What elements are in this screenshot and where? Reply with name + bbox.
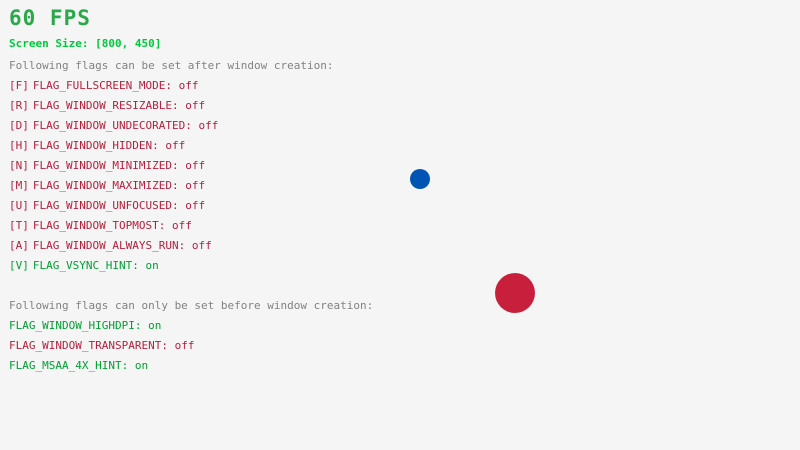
flag-row[interactable]: [D]FLAG_WINDOW_UNDECORATED: off (9, 119, 218, 132)
flag-row[interactable]: FLAG_WINDOW_TRANSPARENT: off (9, 339, 194, 352)
flag-row[interactable]: FLAG_MSAA_4X_HINT: on (9, 359, 148, 372)
flag-value: off (179, 159, 206, 172)
flag-name: FLAG_MSAA_4X_HINT: (9, 359, 128, 372)
flag-name: FLAG_WINDOW_HIGHDPI: (9, 319, 141, 332)
flag-row[interactable]: [N]FLAG_WINDOW_MINIMIZED: off (9, 159, 205, 172)
flag-row[interactable]: [M]FLAG_WINDOW_MAXIMIZED: off (9, 179, 205, 192)
flag-row[interactable]: [R]FLAG_WINDOW_RESIZABLE: off (9, 99, 205, 112)
flag-value: off (185, 239, 212, 252)
flag-name: FLAG_WINDOW_RESIZABLE: (33, 99, 179, 112)
flag-key: [D] (9, 119, 29, 132)
flag-name: FLAG_WINDOW_TOPMOST: (33, 219, 165, 232)
flag-name: FLAG_WINDOW_TRANSPARENT: (9, 339, 168, 352)
flag-key: [M] (9, 179, 29, 192)
flag-name: FLAG_WINDOW_MINIMIZED: (33, 159, 179, 172)
flag-value: off (159, 139, 186, 152)
flag-name: FLAG_WINDOW_UNFOCUSED: (33, 199, 179, 212)
flag-key: [A] (9, 239, 29, 252)
flag-value: off (165, 219, 192, 232)
flag-row[interactable]: FLAG_WINDOW_HIGHDPI: on (9, 319, 161, 332)
fps-counter: 60 FPS (9, 6, 91, 30)
flag-key: [H] (9, 139, 29, 152)
flag-key: [R] (9, 99, 29, 112)
flag-key: [V] (9, 259, 29, 272)
flag-name: FLAG_VSYNC_HINT: (33, 259, 139, 272)
blue-ball (410, 169, 430, 189)
raylib-window-flags-demo: 60 FPS Screen Size: [800, 450] Following… (0, 0, 800, 450)
flag-value: off (168, 339, 195, 352)
flag-key: [T] (9, 219, 29, 232)
screen-size-label: Screen Size: [800, 450] (9, 37, 161, 50)
flag-row[interactable]: [F]FLAG_FULLSCREEN_MODE: off (9, 79, 198, 92)
flag-name: FLAG_WINDOW_UNDECORATED: (33, 119, 192, 132)
red-ball (495, 273, 535, 313)
flag-value: off (172, 79, 199, 92)
flag-value: on (128, 359, 148, 372)
flag-value: off (179, 199, 206, 212)
flag-row[interactable]: [T]FLAG_WINDOW_TOPMOST: off (9, 219, 192, 232)
flag-key: [N] (9, 159, 29, 172)
flag-value: off (179, 99, 206, 112)
flag-name: FLAG_WINDOW_ALWAYS_RUN: (33, 239, 185, 252)
flag-name: FLAG_WINDOW_HIDDEN: (33, 139, 159, 152)
flag-value: on (139, 259, 159, 272)
flag-value: off (179, 179, 206, 192)
flag-key: [F] (9, 79, 29, 92)
flag-row[interactable]: [H]FLAG_WINDOW_HIDDEN: off (9, 139, 185, 152)
flag-row[interactable]: [A]FLAG_WINDOW_ALWAYS_RUN: off (9, 239, 212, 252)
flag-row[interactable]: [U]FLAG_WINDOW_UNFOCUSED: off (9, 199, 205, 212)
flag-value: on (141, 319, 161, 332)
flag-value: off (192, 119, 219, 132)
flag-name: FLAG_FULLSCREEN_MODE: (33, 79, 172, 92)
flag-name: FLAG_WINDOW_MAXIMIZED: (33, 179, 179, 192)
flag-row[interactable]: [V]FLAG_VSYNC_HINT: on (9, 259, 159, 272)
after-creation-note: Following flags can be set after window … (9, 59, 334, 72)
before-creation-note: Following flags can only be set before w… (9, 299, 373, 312)
flag-key: [U] (9, 199, 29, 212)
